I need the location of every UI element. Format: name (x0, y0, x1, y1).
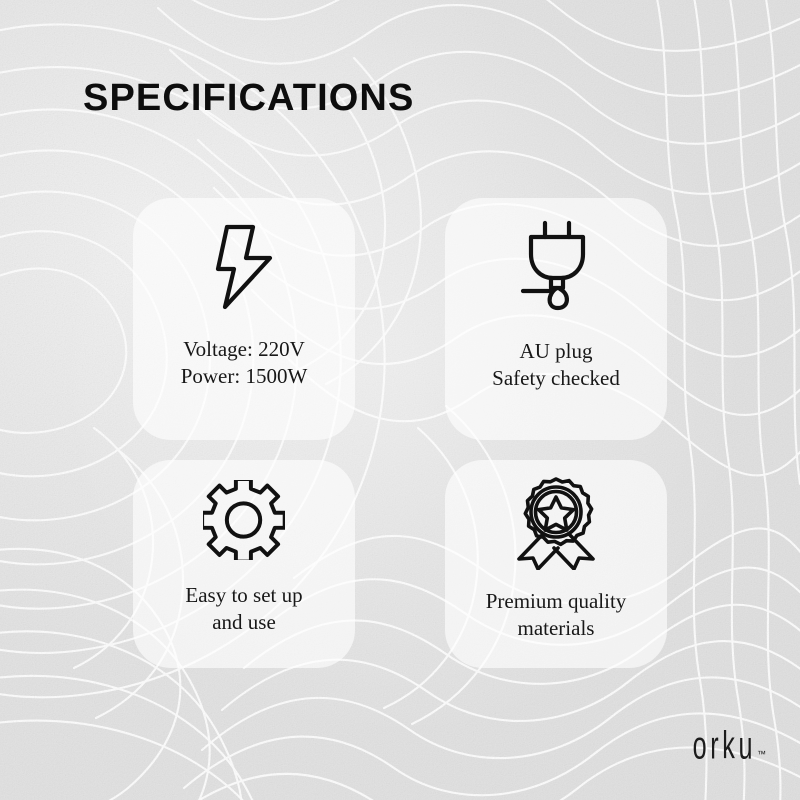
brand-wordmark: orku (693, 727, 756, 764)
award-rosette-icon (513, 476, 599, 570)
spec-card-easy-setup: Easy to set up and use (133, 460, 355, 668)
specifications-grid: Voltage: 220V Power: 1500W (133, 198, 667, 668)
spec-card-text: Easy to set up and use (185, 582, 302, 636)
lightning-bolt-icon (213, 224, 275, 310)
spec-card-text: Voltage: 220V Power: 1500W (181, 336, 308, 390)
spec-card-au-plug: AU plug Safety checked (445, 198, 667, 440)
spec-card-text: Premium quality materials (486, 588, 627, 642)
page-title: SPECIFICATIONS (83, 78, 414, 118)
brand-logo: orku ™ (668, 731, 766, 764)
gear-icon (203, 480, 285, 560)
spec-card-voltage-power: Voltage: 220V Power: 1500W (133, 198, 355, 440)
spec-card-premium-quality: Premium quality materials (445, 460, 667, 668)
spec-card-text: AU plug Safety checked (492, 338, 620, 392)
specifications-poster: SPECIFICATIONS Voltage: 220V Power: 1500… (0, 0, 800, 800)
trademark-symbol: ™ (757, 750, 766, 759)
power-plug-icon (517, 220, 595, 312)
